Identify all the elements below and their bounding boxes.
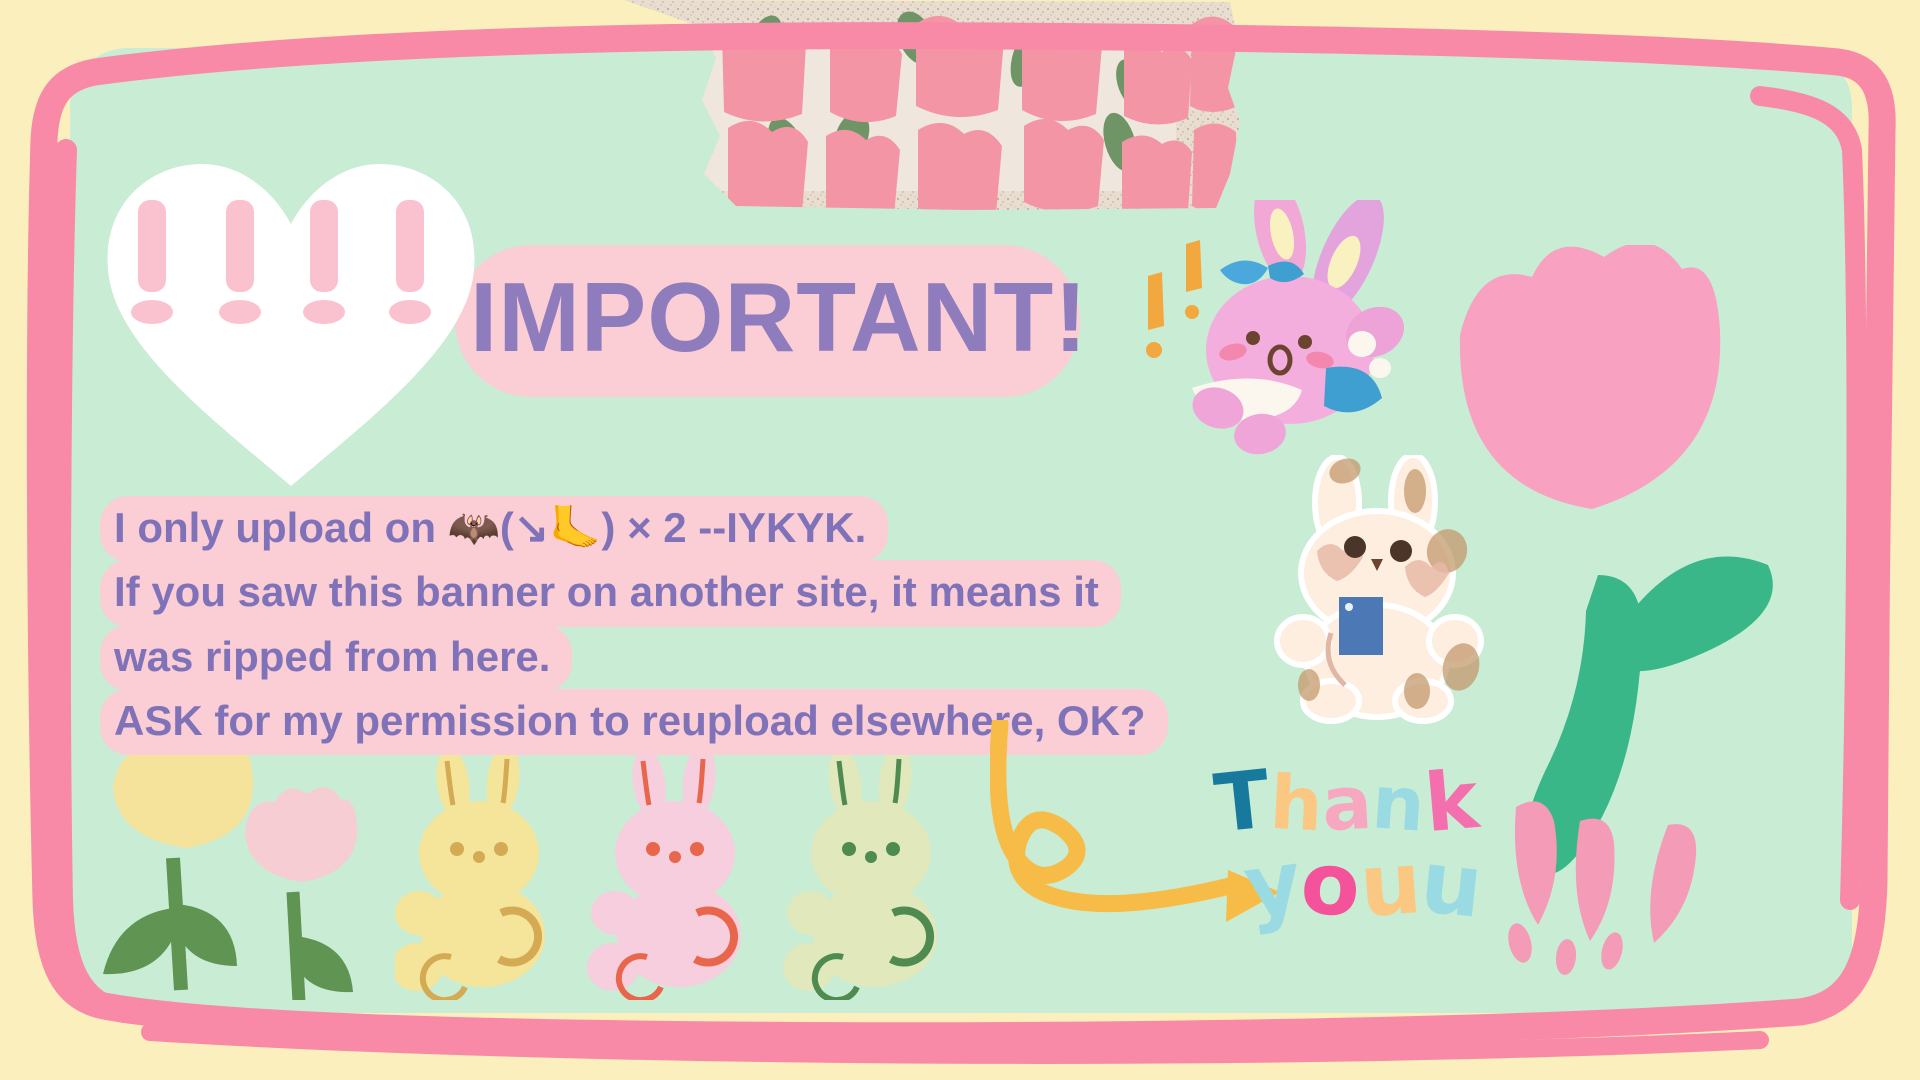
hand-drawn-frame (0, 0, 1920, 1080)
banner-canvas: IMPORTANT! I only upload on 🦇(↘🦶) × 2 --… (0, 0, 1920, 1080)
